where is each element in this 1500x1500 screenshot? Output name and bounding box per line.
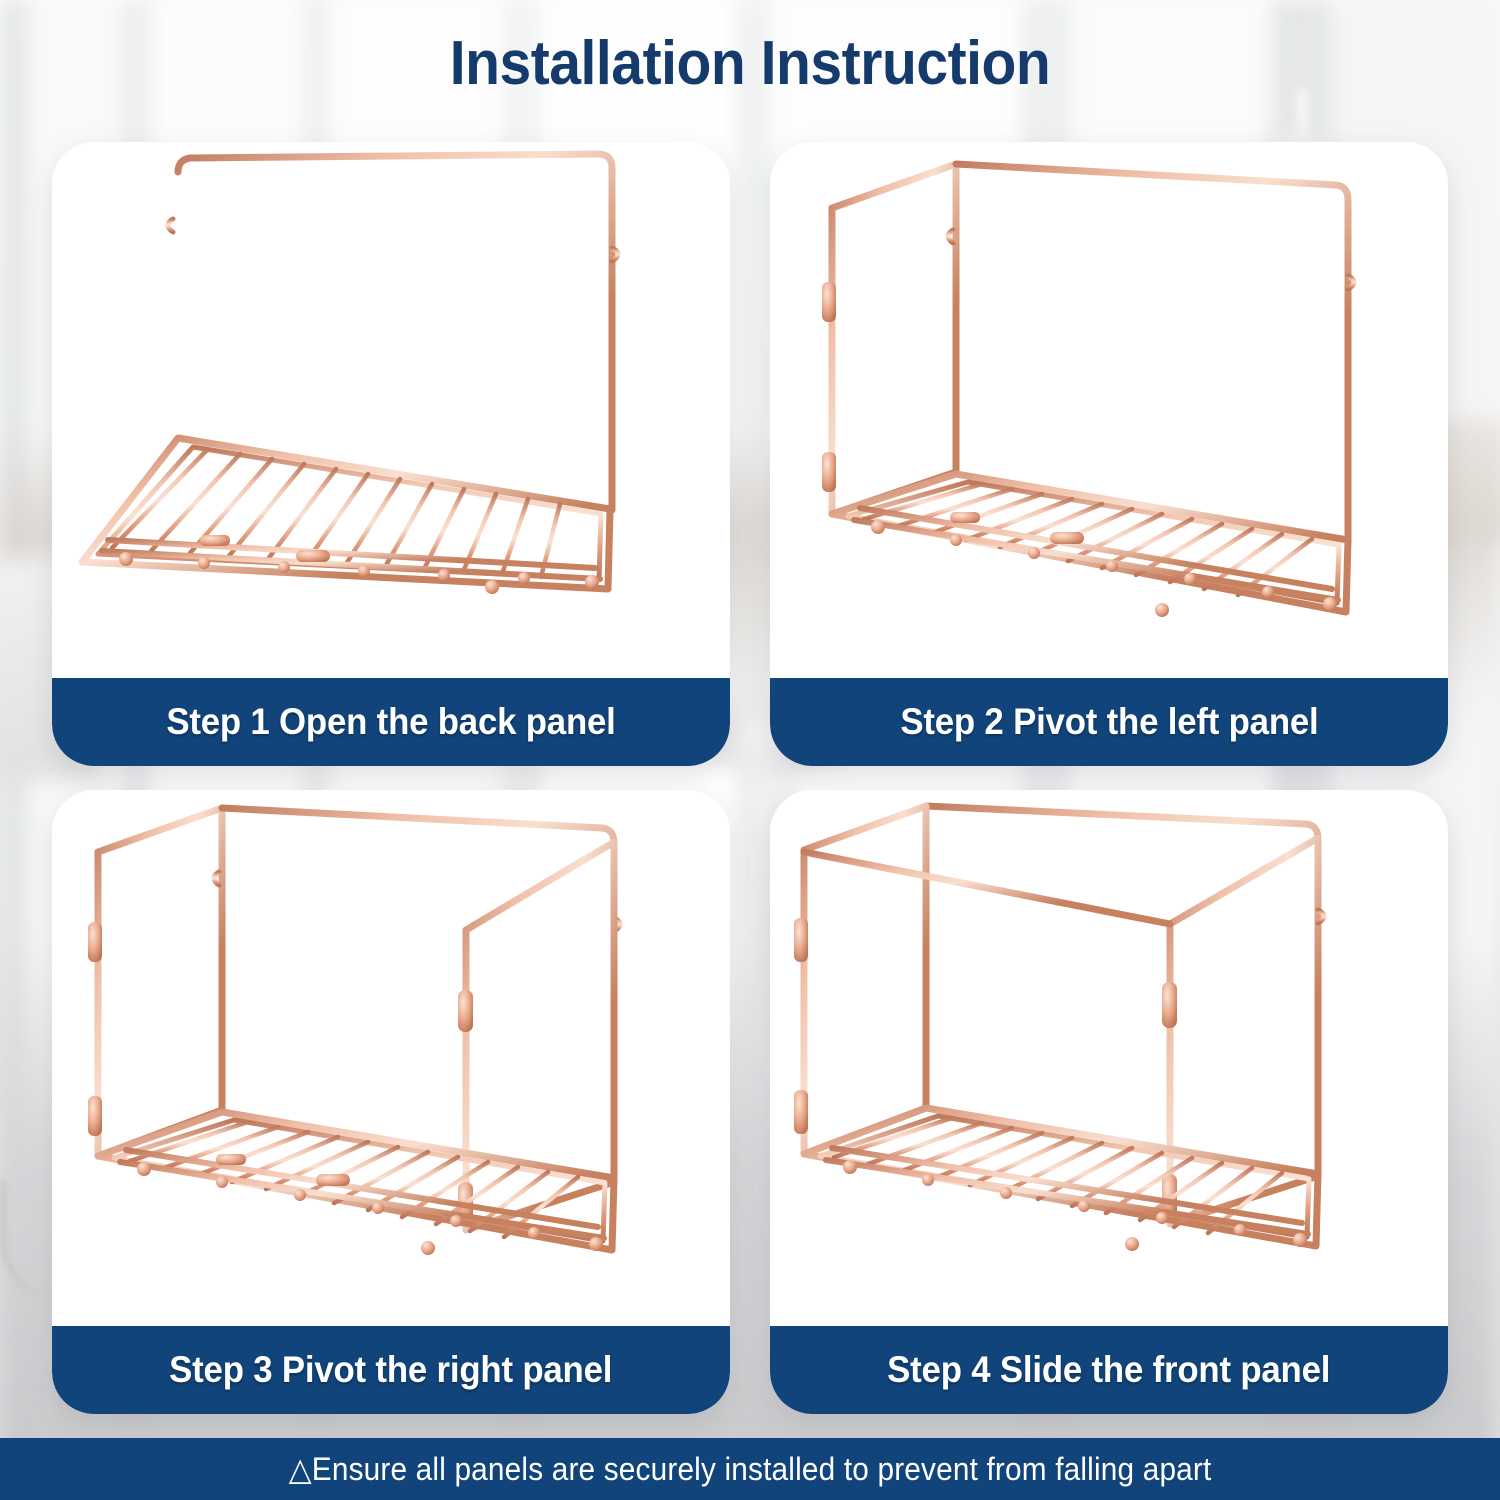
step-card-3: Step 3 Pivot the right panel	[52, 790, 730, 1414]
step-1-illustration	[52, 142, 730, 678]
step-2-banner: Step 2 Pivot the left panel	[770, 678, 1448, 766]
step-2-label: Step 2 Pivot the left panel	[900, 701, 1318, 743]
step-card-1: Step 1 Open the back panel	[52, 142, 730, 766]
footer-warning-bar: △Ensure all panels are securely installe…	[0, 1438, 1500, 1500]
step-card-2: Step 2 Pivot the left panel	[770, 142, 1448, 766]
page-title: Installation Instruction	[60, 20, 1440, 108]
step-4-label: Step 4 Slide the front panel	[887, 1349, 1330, 1391]
footer-warning-text: △Ensure all panels are securely installe…	[289, 1450, 1212, 1488]
step-3-illustration	[52, 790, 730, 1326]
step-card-4: Step 4 Slide the front panel	[770, 790, 1448, 1414]
step-4-illustration	[770, 790, 1448, 1326]
step-1-banner: Step 1 Open the back panel	[52, 678, 730, 766]
step-4-banner: Step 4 Slide the front panel	[770, 1326, 1448, 1414]
step-2-illustration	[770, 142, 1448, 678]
step-3-banner: Step 3 Pivot the right panel	[52, 1326, 730, 1414]
step-3-label: Step 3 Pivot the right panel	[169, 1349, 612, 1391]
step-1-label: Step 1 Open the back panel	[166, 701, 615, 743]
